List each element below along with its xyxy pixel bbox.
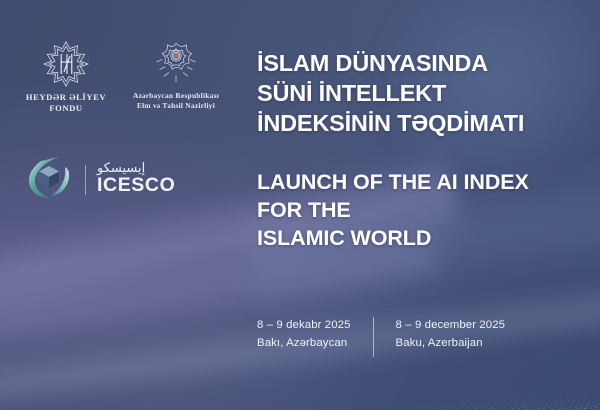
footer-english: 8 – 9 december 2025 Baku, Azerbaijan (396, 316, 506, 352)
title-en-line1: LAUNCH OF THE AI INDEX (257, 168, 529, 196)
eight-pointed-star-icon (14, 40, 118, 88)
icesco-latin-wordmark: ICESCO (97, 175, 175, 196)
content-column: İSLAM DÜNYASINDA SÜNİ İNTELLEKT İNDEKSİN… (257, 0, 600, 410)
footer-en-place: Baku, Azerbaijan (396, 334, 506, 352)
footer-az-place: Bakı, Azərbaycan (257, 334, 351, 352)
title-az-line2: SÜNİ İNTELLEKT (257, 78, 524, 108)
title-az-line1: İSLAM DÜNYASINDA (257, 48, 524, 78)
haf-caption-line1: HEYDƏR ƏLİYEV (14, 92, 118, 103)
ministry-caption-line1: Azərbaycan Respublikası (112, 91, 240, 101)
footer-az-date: 8 – 9 dekabr 2025 (257, 316, 351, 334)
title-azerbaijani: İSLAM DÜNYASINDA SÜNİ İNTELLEKT İNDEKSİN… (257, 48, 524, 138)
footer-divider (373, 317, 374, 357)
ministry-logo: Azərbaycan Respublikası Elm və Təhsil Na… (112, 40, 240, 111)
icesco-logo: إيسيسكو ICESCO (24, 152, 175, 207)
title-en-line2: FOR THE (257, 196, 529, 224)
heydar-aliyev-foundation-logo: HEYDƏR ƏLİYEV FONDU (14, 40, 118, 114)
footer-azerbaijani: 8 – 9 dekabr 2025 Bakı, Azərbaycan (257, 316, 351, 352)
title-english: LAUNCH OF THE AI INDEX FOR THE ISLAMIC W… (257, 168, 529, 252)
event-footer: 8 – 9 dekabr 2025 Bakı, Azərbaycan 8 – 9… (257, 316, 505, 357)
title-az-line3: İNDEKSİNİN TƏQDİMATI (257, 108, 524, 138)
event-banner: HEYDƏR ƏLİYEV FONDU (0, 0, 600, 410)
ministry-caption-line2: Elm və Təhsil Nazirliyi (112, 101, 240, 111)
ministry-star-emblem-icon (112, 40, 240, 88)
footer-en-date: 8 – 9 december 2025 (396, 316, 506, 334)
logo-column: HEYDƏR ƏLİYEV FONDU (0, 0, 248, 410)
haf-caption-line2: FONDU (14, 103, 118, 114)
icesco-cube-swoosh-icon (24, 152, 74, 207)
icesco-logo-divider (85, 165, 86, 195)
title-en-line3: ISLAMIC WORLD (257, 224, 529, 252)
